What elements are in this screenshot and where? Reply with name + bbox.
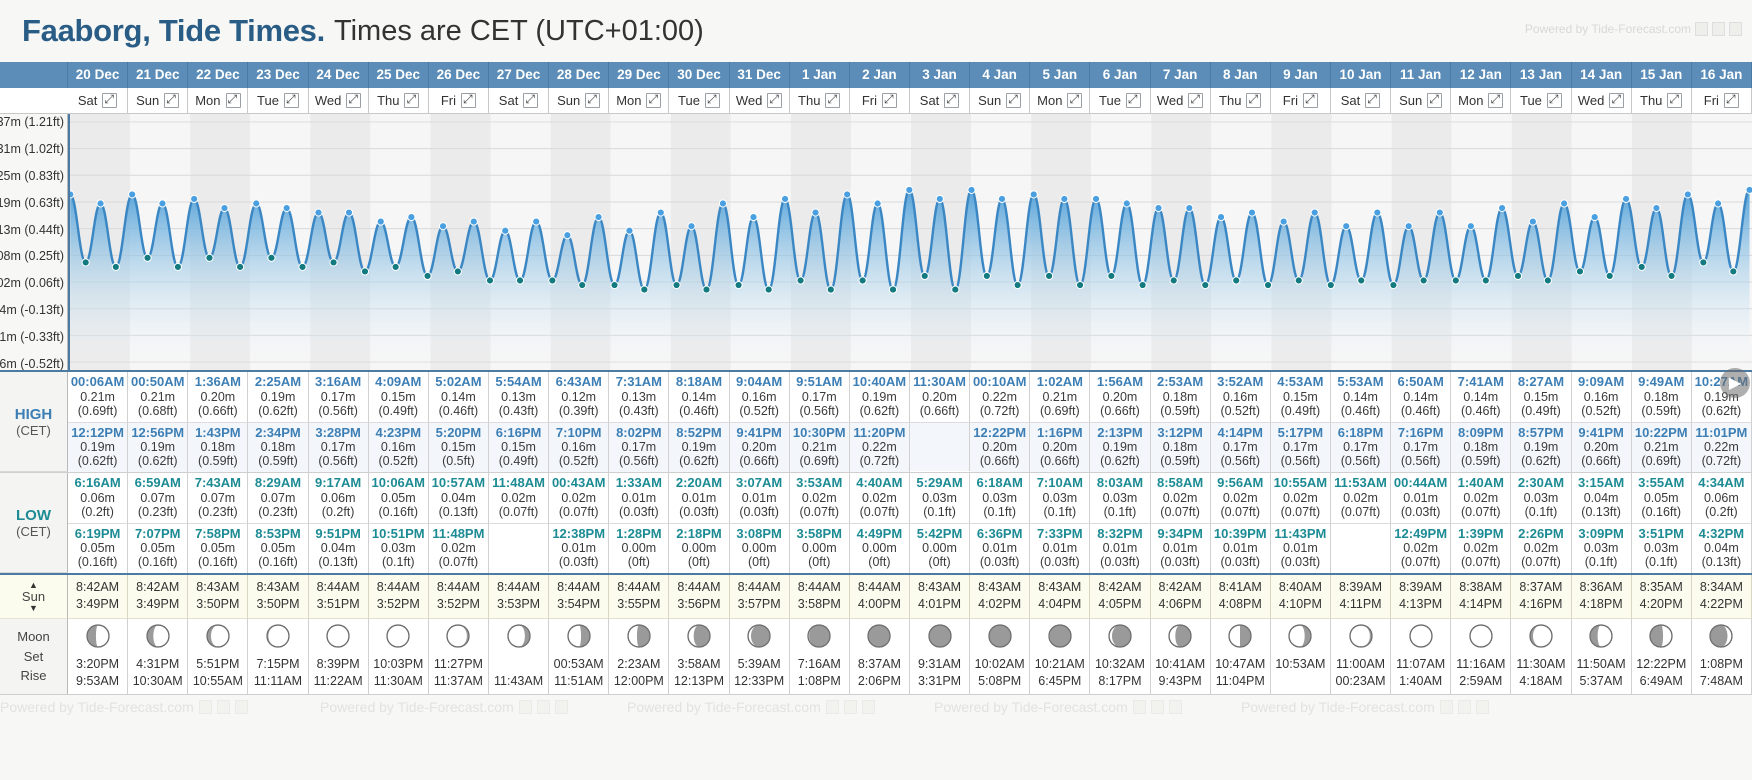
expand-icon-8[interactable]: [585, 93, 600, 108]
tide-height-ft: (0.52ft): [369, 454, 428, 468]
moon-times-cell: 10:41AM9:43PM: [1151, 656, 1211, 694]
high-tide-col-26: 9:49AM0.18m(0.59ft)10:22PM0.21m(0.69ft): [1632, 372, 1692, 472]
tide-height-ft: (0.62ft): [1692, 404, 1751, 418]
tide-height-ft: (0.56ft): [1391, 454, 1450, 468]
low-tide-col-5: 10:06AM0.05m(0.16ft)10:51PM0.03m(0.1ft): [369, 473, 429, 573]
moon-times-cell: 11:50AM5:37AM: [1572, 656, 1632, 694]
date-header-22[interactable]: 11 Jan: [1391, 62, 1451, 88]
tide-height-ft: (0.56ft): [790, 404, 849, 418]
tide-height-ft: (0.07ft): [1451, 555, 1510, 569]
tide-time: 3:52AM: [1211, 375, 1270, 390]
moon-phase-icon: [1528, 623, 1554, 649]
moonset-time: 11:00AM: [1331, 656, 1390, 673]
moon-title: Moon: [17, 627, 50, 647]
expand-icon-15[interactable]: [1006, 93, 1021, 108]
tide-height-m: 0.18m: [1632, 390, 1691, 404]
tide-height-ft: (0ft): [669, 555, 728, 569]
high-tide-label: HIGH (CET): [0, 372, 68, 472]
scroll-right-button[interactable]: ▶: [1720, 368, 1750, 398]
tide-height-m: 0.02m: [1331, 491, 1390, 505]
sunrise-time: 8:39AM: [1331, 579, 1390, 596]
moon-times-cell: 8:39PM11:22AM: [309, 656, 369, 694]
moon-phase-icon: [1588, 623, 1614, 649]
date-header-23[interactable]: 12 Jan: [1451, 62, 1511, 88]
high-tide-title: HIGH: [15, 406, 53, 423]
expand-icon-21[interactable]: [1365, 93, 1380, 108]
moon-phase-cell: [1632, 619, 1692, 656]
expand-icon-12[interactable]: [825, 93, 840, 108]
date-header-21[interactable]: 10 Jan: [1331, 62, 1391, 88]
moon-times-cell: 11:00AM00:23AM: [1331, 656, 1391, 694]
sunset-time: 4:04PM: [1030, 596, 1089, 613]
sunrise-time: 8:44AM: [489, 579, 548, 596]
tide-height-m: 0.07m: [128, 491, 187, 505]
moon-col-10: 3:58AM12:13PM: [669, 619, 729, 694]
tide-time: 4:14PM: [1211, 426, 1270, 441]
tide-time: 10:30PM: [790, 426, 849, 441]
footer-watermark-4: Powered by Tide-Forecast.com: [934, 699, 1182, 715]
y-axis: 0.37m (1.21ft)0.31m (1.02ft)0.25m (0.83f…: [0, 114, 68, 370]
tide-height-ft: (0.23ft): [248, 505, 307, 519]
expand-icon-6[interactable]: [461, 93, 476, 108]
moonset-time: 00:53AM: [549, 656, 608, 673]
day-of-week-7: Sat: [489, 88, 549, 114]
high-tide-cell: 00:50AM0.21m(0.68ft): [128, 372, 188, 423]
tide-time: 5:53AM: [1331, 375, 1390, 390]
expand-icon-27[interactable]: [1724, 93, 1739, 108]
low-tide-cell: 6:19PM0.05m(0.16ft): [68, 524, 128, 574]
moon-phase-icon: [385, 623, 411, 649]
low-tide-cell: 1:39PM0.02m(0.07ft): [1451, 524, 1511, 574]
tide-time: 7:10PM: [549, 426, 608, 441]
moonset-time: 4:31PM: [128, 656, 187, 673]
moonset-time: 7:16AM: [790, 656, 849, 673]
low-tide-col-3: 8:29AM0.07m(0.23ft)8:53PM0.05m(0.16ft): [248, 473, 308, 573]
tide-height-ft: (0.69ft): [790, 454, 849, 468]
sunset-time: 4:13PM: [1391, 596, 1450, 613]
day-of-week-3: Tue: [248, 88, 308, 114]
sunset-time: 3:54PM: [549, 596, 608, 613]
expand-icon-1[interactable]: [164, 93, 179, 108]
high-tide-col-10: 8:18AM0.14m(0.46ft)8:52PM0.19m(0.62ft): [669, 372, 729, 472]
high-tide-cell: 10:22PM0.21m(0.69ft): [1632, 423, 1692, 473]
date-header-8[interactable]: 28 Dec: [549, 62, 609, 88]
expand-icon-13[interactable]: [882, 93, 897, 108]
tide-height-ft: (0.2ft): [1692, 505, 1751, 519]
tide-height-ft: (0.07ft): [1511, 555, 1570, 569]
moon-phase-icon: [927, 623, 953, 649]
date-header-19[interactable]: 8 Jan: [1211, 62, 1271, 88]
high-tide-cell: 4:09AM0.15m(0.49ft): [369, 372, 429, 423]
low-tide-cell: 3:53AM0.02m(0.07ft): [790, 473, 850, 524]
date-header-18[interactable]: 7 Jan: [1151, 62, 1211, 88]
tide-height-ft: (0.23ft): [188, 505, 247, 519]
date-header-3[interactable]: 23 Dec: [248, 62, 308, 88]
date-header-24[interactable]: 13 Jan: [1511, 62, 1571, 88]
low-tide-col-22: 00:44AM0.01m(0.03ft)12:49PM0.02m(0.07ft): [1391, 473, 1451, 573]
moon-col-16: 10:21AM6:45PM: [1030, 619, 1090, 694]
low-tide-cell: 7:33PM0.01m(0.03ft): [1030, 524, 1090, 574]
day-of-week-label-0: Sat: [78, 93, 98, 108]
footer-icon-1b: [217, 700, 230, 714]
moon-phase-cell: [609, 619, 669, 656]
expand-icon-10[interactable]: [705, 93, 720, 108]
expand-icon-4[interactable]: [346, 93, 361, 108]
tide-height-ft: (0.03ft): [1271, 555, 1330, 569]
high-tide-cell: 11:20PM0.22m(0.72ft): [850, 423, 910, 473]
moon-times-cell: 10:47AM11:04PM: [1211, 656, 1271, 694]
sun-cell-10: 8:44AM3:56PM: [669, 575, 729, 619]
moonset-time: 11:30AM: [1511, 656, 1570, 673]
tide-height-ft: (0.07ft): [1211, 505, 1270, 519]
sun-cell-14: 8:43AM4:01PM: [910, 575, 970, 619]
low-tide-cell: 3:08PM0.00m(0ft): [730, 524, 790, 574]
tide-height-m: 0.04m: [1692, 541, 1751, 555]
tide-time: 6:16AM: [68, 476, 127, 491]
sun-cell-9: 8:44AM3:55PM: [609, 575, 669, 619]
moonrise-time: 10:30AM: [128, 673, 187, 690]
dow-columns: SatSunMonTueWedThuFriSatSunMonTueWedThuF…: [68, 88, 1752, 114]
low-tide-label: LOW (CET): [0, 473, 68, 573]
footer-watermark-2: Powered by Tide-Forecast.com: [320, 699, 568, 715]
date-header-1[interactable]: 21 Dec: [128, 62, 188, 88]
tide-time: 8:03AM: [1090, 476, 1149, 491]
tide-height-ft: (0.23ft): [128, 505, 187, 519]
expand-icon-24[interactable]: [1547, 93, 1562, 108]
tide-time: 11:48PM: [429, 527, 488, 542]
high-tide-cell: 2:25AM0.19m(0.62ft): [248, 372, 308, 423]
expand-icon-23[interactable]: [1488, 93, 1503, 108]
low-tide-cell: [1331, 524, 1391, 572]
tide-height-ft: (0.1ft): [1090, 505, 1149, 519]
date-header-10[interactable]: 30 Dec: [669, 62, 729, 88]
tide-height-ft: (0.1ft): [1572, 555, 1631, 569]
low-tide-col-27: 4:34AM0.06m(0.2ft)4:32PM0.04m(0.13ft): [1692, 473, 1752, 573]
tide-height-m: 0.01m: [1391, 491, 1450, 505]
day-of-week-21: Sat: [1331, 88, 1391, 114]
high-tide-unit: (CET): [16, 423, 51, 438]
high-tide-col-9: 7:31AM0.13m(0.43ft)8:02PM0.17m(0.56ft): [609, 372, 669, 472]
moonset-time: 11:27PM: [429, 656, 488, 673]
moonset-time: 11:16AM: [1451, 656, 1510, 673]
moon-col-24: 11:30AM4:18AM: [1511, 619, 1571, 694]
expand-icon-14[interactable]: [944, 93, 959, 108]
expand-icon-11[interactable]: [767, 93, 782, 108]
moonrise-time: 3:31PM: [910, 673, 969, 690]
watermark-icon-3: [1729, 22, 1742, 36]
low-tide-col-21: 11:53AM0.02m(0.07ft): [1331, 473, 1391, 573]
moon-phase-cell: [369, 619, 429, 656]
day-of-week-label-27: Fri: [1704, 93, 1719, 108]
moon-phase-icon: [566, 623, 592, 649]
tide-plot-area: [68, 114, 1752, 370]
tide-height-m: 0.17m: [1211, 440, 1270, 454]
day-of-week-8: Sun: [549, 88, 609, 114]
tide-height-m: 0.19m: [68, 440, 127, 454]
moon-phase-cell: [188, 619, 248, 656]
date-header-0[interactable]: 20 Dec: [68, 62, 128, 88]
moon-col-20: 10:53AM: [1271, 619, 1331, 694]
sun-cell-3: 8:43AM3:50PM: [248, 575, 308, 619]
tide-height-ft: (0.07ft): [1271, 505, 1330, 519]
sun-cell-16: 8:43AM4:04PM: [1030, 575, 1090, 619]
expand-icon-25[interactable]: [1609, 93, 1624, 108]
tide-time: 12:12PM: [68, 426, 127, 441]
moonset-time: 12:22PM: [1632, 656, 1691, 673]
date-header-5[interactable]: 25 Dec: [369, 62, 429, 88]
day-of-week-label-9: Mon: [616, 93, 641, 108]
y-axis-tick-7: -0.04m (-0.13ft): [0, 303, 64, 317]
moon-phase-cell: [1572, 619, 1632, 656]
sun-title: Sun: [22, 589, 45, 604]
high-tide-cell: 4:23PM0.16m(0.52ft): [369, 423, 429, 473]
tide-time: 4:40AM: [850, 476, 909, 491]
tide-time: 6:16PM: [489, 426, 548, 441]
moon-col-5: 10:03PM11:30AM: [369, 619, 429, 694]
expand-icon-16[interactable]: [1067, 93, 1082, 108]
sunset-time: 4:11PM: [1331, 596, 1390, 613]
tide-time: 7:33PM: [1030, 527, 1089, 542]
date-header-15[interactable]: 4 Jan: [970, 62, 1030, 88]
expand-icon-5[interactable]: [404, 93, 419, 108]
moon-phase-cell: [489, 619, 549, 656]
tide-height-ft: (0.16ft): [128, 555, 187, 569]
tide-height-ft: (0.49ft): [369, 404, 428, 418]
expand-icon-2[interactable]: [226, 93, 241, 108]
y-axis-tick-1: 0.31m (1.02ft): [0, 142, 64, 156]
sun-cell-4: 8:44AM3:51PM: [309, 575, 369, 619]
moon-times-cell: 3:58AM12:13PM: [669, 656, 729, 694]
tide-time: 8:57PM: [1511, 426, 1570, 441]
tide-time: 00:44AM: [1391, 476, 1450, 491]
tide-time: 10:51PM: [369, 527, 428, 542]
sun-cell-20: 8:40AM4:10PM: [1271, 575, 1331, 619]
tide-height-m: 0.01m: [1090, 541, 1149, 555]
date-header-6[interactable]: 26 Dec: [429, 62, 489, 88]
tide-height-ft: (0.72ft): [1692, 454, 1751, 468]
expand-icon-18[interactable]: [1188, 93, 1203, 108]
tide-height-m: 0.17m: [309, 440, 368, 454]
moon-phase-icon: [1227, 623, 1253, 649]
tide-time: 1:39PM: [1451, 527, 1510, 542]
moon-phase-cell: [429, 619, 489, 656]
tide-time: 6:36PM: [970, 527, 1029, 542]
tide-time: 4:09AM: [369, 375, 428, 390]
tide-height-m: 0.20m: [1030, 440, 1089, 454]
sunset-time: 3:49PM: [68, 596, 127, 613]
low-tide-cell: 3:58PM0.00m(0ft): [790, 524, 850, 574]
tide-height-ft: (0ft): [910, 555, 969, 569]
moon-phase-icon: [1408, 623, 1434, 649]
tide-height-m: 0.17m: [790, 390, 849, 404]
tide-time: 7:31AM: [609, 375, 668, 390]
high-tide-cell: 1:56AM0.20m(0.66ft): [1090, 372, 1150, 423]
footer-watermark-text-1: Powered by Tide-Forecast.com: [0, 699, 194, 715]
date-header-9[interactable]: 29 Dec: [609, 62, 669, 88]
date-header-7[interactable]: 27 Dec: [489, 62, 549, 88]
tide-height-m: 0.21m: [68, 390, 127, 404]
moon-section: Moon Set Rise 3:20PM9:53AM4:31PM10:30AM5…: [0, 619, 1752, 694]
moon-col-2: 5:51PM10:55AM: [188, 619, 248, 694]
low-tide-cell: 7:58PM0.05m(0.16ft): [188, 524, 248, 574]
tide-height-m: 0.03m: [1090, 491, 1149, 505]
watermark-icon-2: [1712, 22, 1725, 36]
moon-phase-cell: [1692, 619, 1752, 656]
tide-time: 9:41PM: [730, 426, 789, 441]
expand-icon-7[interactable]: [523, 93, 538, 108]
tide-height-m: 0.17m: [1391, 440, 1450, 454]
low-tide-unit: (CET): [16, 524, 51, 539]
page-header: Faaborg, Tide Times. Times are CET (UTC+…: [0, 0, 1752, 62]
tide-height-m: 0.02m: [790, 491, 849, 505]
moon-col-0: 3:20PM9:53AM: [68, 619, 128, 694]
footer-icon-1c: [235, 700, 248, 714]
date-header-4[interactable]: 24 Dec: [309, 62, 369, 88]
tide-height-m: 0.21m: [790, 440, 849, 454]
day-of-week-label-22: Sun: [1399, 93, 1422, 108]
expand-icon-19[interactable]: [1246, 93, 1261, 108]
moonset-time: 2:23AM: [609, 656, 668, 673]
high-tide-cell: 9:41PM0.20m(0.66ft): [1572, 423, 1632, 473]
tide-height-m: 0.16m: [369, 440, 428, 454]
tide-height-m: 0.19m: [128, 440, 187, 454]
moon-times-cell: 4:31PM10:30AM: [128, 656, 188, 694]
footer-watermark-text-4: Powered by Tide-Forecast.com: [934, 699, 1128, 715]
date-header-16[interactable]: 5 Jan: [1030, 62, 1090, 88]
tide-height-ft: (0.07ft): [1151, 505, 1210, 519]
tide-height-ft: (0.43ft): [489, 404, 548, 418]
moon-col-6: 11:27PM11:37AM: [429, 619, 489, 694]
date-header-12[interactable]: 1 Jan: [790, 62, 850, 88]
tide-height-ft: (0.49ft): [1511, 404, 1570, 418]
tide-height-ft: (0ft): [730, 555, 789, 569]
low-tide-cell: 10:06AM0.05m(0.16ft): [369, 473, 429, 524]
y-axis-tick-5: 0.08m (0.25ft): [0, 249, 64, 263]
tide-height-m: 0.03m: [369, 541, 428, 555]
tide-height-m: 0.02m: [1271, 491, 1330, 505]
expand-icon-22[interactable]: [1427, 93, 1442, 108]
high-tide-cell: [910, 423, 970, 471]
low-tide-col-24: 2:30AM0.03m(0.1ft)2:26PM0.02m(0.07ft): [1511, 473, 1571, 573]
moon-times-cell: 10:32AM8:17PM: [1090, 656, 1150, 694]
tide-time: 8:27AM: [1511, 375, 1570, 390]
sunset-time: 4:00PM: [850, 596, 909, 613]
expand-icon-9[interactable]: [646, 93, 661, 108]
tide-height-m: 0.01m: [669, 491, 728, 505]
low-tide-cell: 7:07PM0.05m(0.16ft): [128, 524, 188, 574]
expand-icon-17[interactable]: [1126, 93, 1141, 108]
y-axis-tick-4: 0.13m (0.44ft): [0, 223, 64, 237]
date-header-17[interactable]: 6 Jan: [1090, 62, 1150, 88]
tide-time: 10:39PM: [1211, 527, 1270, 542]
moon-label-cell: Moon Set Rise: [0, 619, 68, 694]
tide-height-ft: (0.1ft): [910, 505, 969, 519]
tide-height-ft: (0.59ft): [1632, 404, 1691, 418]
sunset-time: 3:53PM: [489, 596, 548, 613]
day-of-week-25: Wed: [1572, 88, 1632, 114]
date-header-27[interactable]: 16 Jan: [1692, 62, 1752, 88]
sun-cell-25: 8:36AM4:18PM: [1572, 575, 1632, 619]
tide-height-ft: (0.62ft): [669, 454, 728, 468]
expand-icon-0[interactable]: [102, 93, 117, 108]
tide-height-ft: (0.03ft): [1030, 555, 1089, 569]
tide-height-m: 0.05m: [68, 541, 127, 555]
tide-time: 1:33AM: [609, 476, 668, 491]
moonrise-time: 5:08PM: [970, 673, 1029, 690]
tide-time: 9:41PM: [1572, 426, 1631, 441]
tide-time: 3:07AM: [730, 476, 789, 491]
tide-height-ft: (0.16ft): [68, 555, 127, 569]
expand-icon-20[interactable]: [1303, 93, 1318, 108]
tide-curve-svg: [70, 114, 1752, 370]
tide-time: 7:43AM: [188, 476, 247, 491]
tide-time: 11:43PM: [1271, 527, 1330, 542]
expand-icon-26[interactable]: [1667, 93, 1682, 108]
tide-time: 7:41AM: [1451, 375, 1510, 390]
sun-cell-19: 8:41AM4:08PM: [1211, 575, 1271, 619]
moon-phase-icon: [1468, 623, 1494, 649]
day-of-week-26: Thu: [1632, 88, 1692, 114]
tide-height-ft: (0.52ft): [1572, 404, 1631, 418]
low-tide-cell: 4:49PM0.00m(0ft): [850, 524, 910, 574]
moon-phase-icon: [1167, 623, 1193, 649]
high-tide-cell: 9:09AM0.16m(0.52ft): [1572, 372, 1632, 423]
day-of-week-label-12: Thu: [798, 93, 820, 108]
moon-times-cell: 7:15PM11:11AM: [248, 656, 308, 694]
date-header-25[interactable]: 14 Jan: [1572, 62, 1632, 88]
tide-height-m: 0.17m: [309, 390, 368, 404]
tide-height-ft: (0.62ft): [128, 454, 187, 468]
expand-icon-3[interactable]: [284, 93, 299, 108]
tide-height-m: 0.01m: [1030, 541, 1089, 555]
date-header-14[interactable]: 3 Jan: [910, 62, 970, 88]
tide-height-m: 0.22m: [1692, 440, 1751, 454]
date-header-13[interactable]: 2 Jan: [850, 62, 910, 88]
low-tide-cell: 4:32PM0.04m(0.13ft): [1692, 524, 1752, 574]
date-header-2[interactable]: 22 Dec: [188, 62, 248, 88]
sunset-time: 4:01PM: [910, 596, 969, 613]
sunset-time: 3:49PM: [128, 596, 187, 613]
sunrise-time: 8:42AM: [68, 579, 127, 596]
day-of-week-label-25: Wed: [1578, 93, 1605, 108]
footer-watermark-text-3: Powered by Tide-Forecast.com: [627, 699, 821, 715]
date-header-20[interactable]: 9 Jan: [1271, 62, 1331, 88]
day-of-week-label-23: Mon: [1458, 93, 1483, 108]
moon-phase-icon: [85, 623, 111, 649]
tide-time: 8:52PM: [669, 426, 728, 441]
tide-height-m: 0.21m: [1030, 390, 1089, 404]
moon-col-12: 7:16AM1:08PM: [790, 619, 850, 694]
sunset-time: 3:56PM: [669, 596, 728, 613]
tide-height-ft: (0.62ft): [1511, 454, 1570, 468]
high-tide-col-17: 1:56AM0.20m(0.66ft)2:13PM0.19m(0.62ft): [1090, 372, 1150, 472]
high-tide-section: HIGH (CET) 00:06AM0.21m(0.69ft)12:12PM0.…: [0, 372, 1752, 473]
moonrise-title: Rise: [20, 666, 46, 686]
high-tide-col-16: 1:02AM0.21m(0.69ft)1:16PM0.20m(0.66ft): [1030, 372, 1090, 472]
day-of-week-label-10: Tue: [678, 93, 700, 108]
tide-height-ft: (0.62ft): [68, 454, 127, 468]
date-header-11[interactable]: 31 Dec: [730, 62, 790, 88]
day-of-week-label-5: Thu: [377, 93, 399, 108]
day-of-week-10: Tue: [669, 88, 729, 114]
date-header-26[interactable]: 15 Jan: [1632, 62, 1692, 88]
tide-time: 5:17PM: [1271, 426, 1330, 441]
tide-time: 4:49PM: [850, 527, 909, 542]
moon-phase-icon: [205, 623, 231, 649]
tide-height-m: 0.06m: [68, 491, 127, 505]
tide-height-ft: (0.1ft): [970, 505, 1029, 519]
low-tide-label-cell: LOW (CET): [0, 473, 68, 573]
